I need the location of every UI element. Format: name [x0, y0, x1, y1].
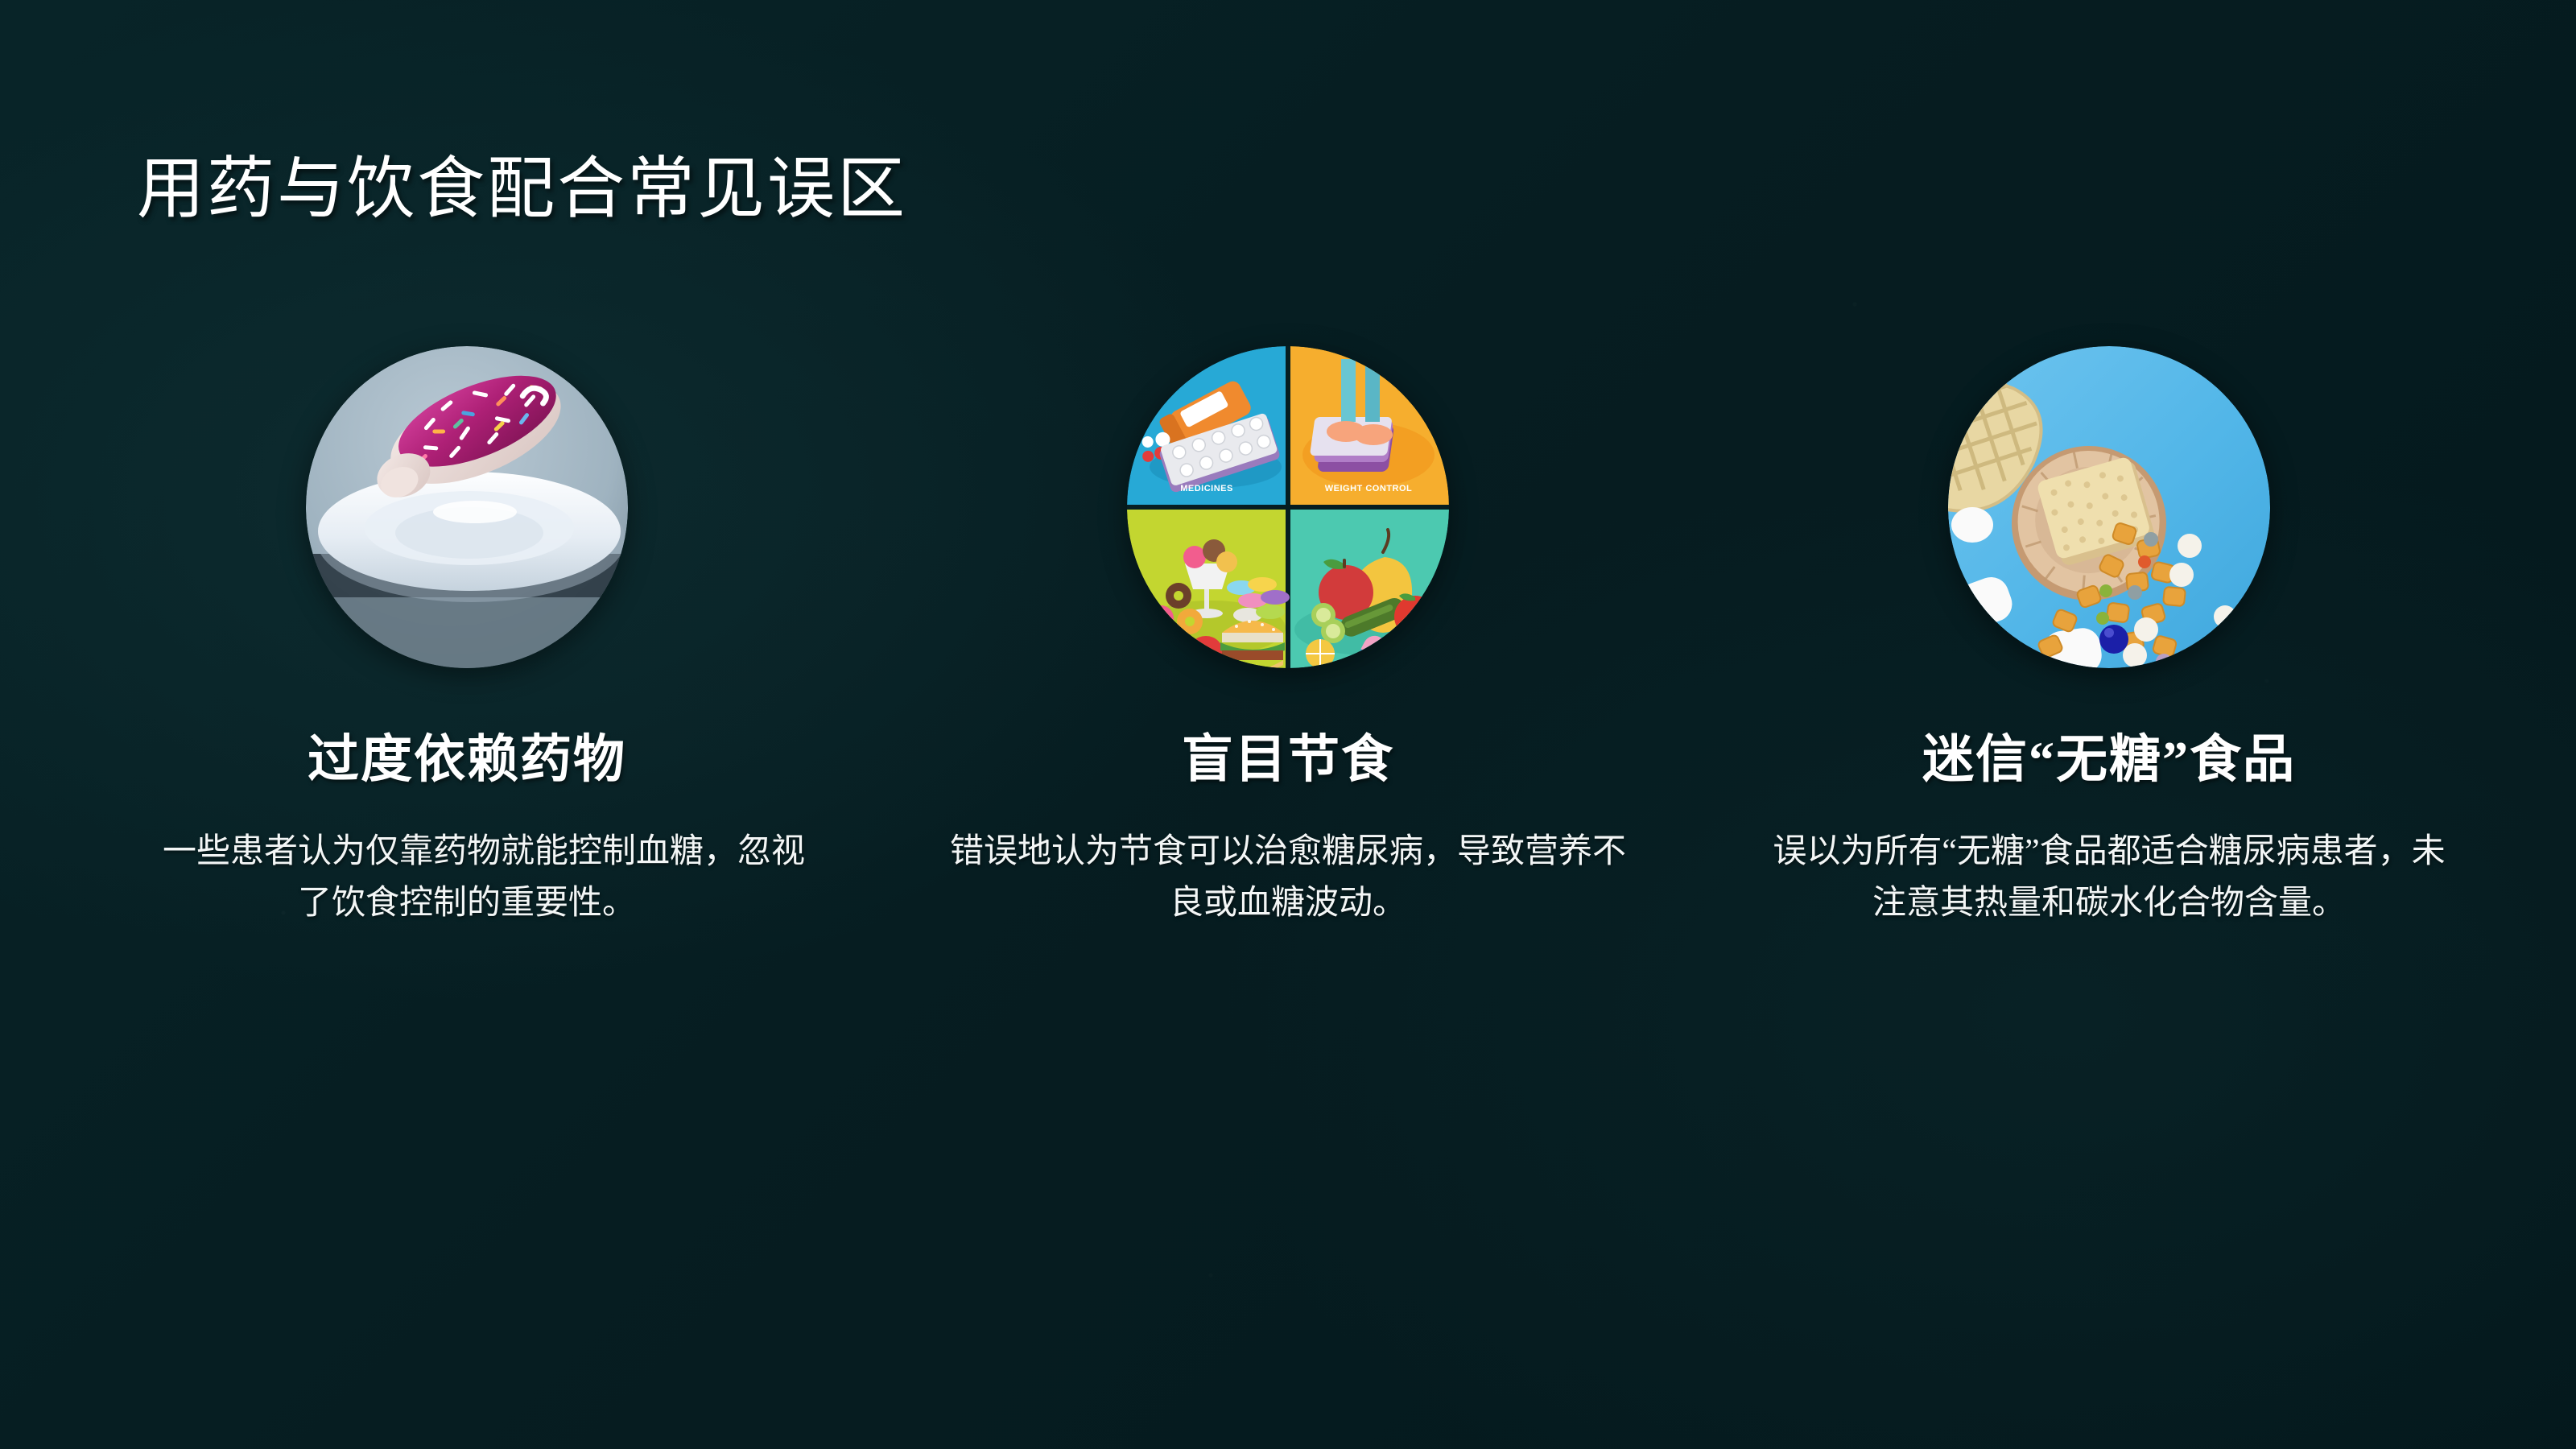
thumbnail-plate-with-sprinkled-donut [306, 346, 628, 668]
page-title: 用药与饮食配合常见误区 [137, 151, 907, 229]
card-title: 盲目节食 [1182, 729, 1394, 791]
thumbnail-waffle-cereal-snacks [1948, 346, 2270, 668]
card-blind-dieting: MEDICINES WEIGHT CONTROL [877, 346, 1699, 929]
thumbnail-four-quadrant-diabetes-infographic: MEDICINES WEIGHT CONTROL [1127, 346, 1449, 668]
card-title: 过度依赖药物 [308, 729, 626, 791]
cards-row: 过度依赖药物 一些患者认为仅靠药物就能控制血糖，忽视了饮食控制的重要性。 [0, 346, 2576, 929]
card-body: 误以为所有“无糖”食品都适合糖尿病患者，未注意其热量和碳水化合物含量。 [1763, 827, 2455, 930]
quadrant-label-weight-control: WEIGHT CONTROL [1325, 484, 1412, 493]
quadrant-label-medicines: MEDICINES [1180, 484, 1233, 493]
card-title: 迷信“无糖”食品 [1922, 729, 2296, 791]
card-over-reliance-on-medication: 过度依赖药物 一些患者认为仅靠药物就能控制血糖，忽视了饮食控制的重要性。 [56, 346, 877, 929]
card-sugar-free-food-myth: 迷信“无糖”食品 误以为所有“无糖”食品都适合糖尿病患者，未注意其热量和碳水化合… [1699, 346, 2520, 929]
card-body: 错误地认为节食可以治愈糖尿病，导致营养不良或血糖波动。 [942, 827, 1634, 930]
card-body: 一些患者认为仅靠药物就能控制血糖，忽视了饮食控制的重要性。 [121, 827, 813, 930]
slide-root: 用药与饮食配合常见误区 [0, 0, 2576, 1449]
